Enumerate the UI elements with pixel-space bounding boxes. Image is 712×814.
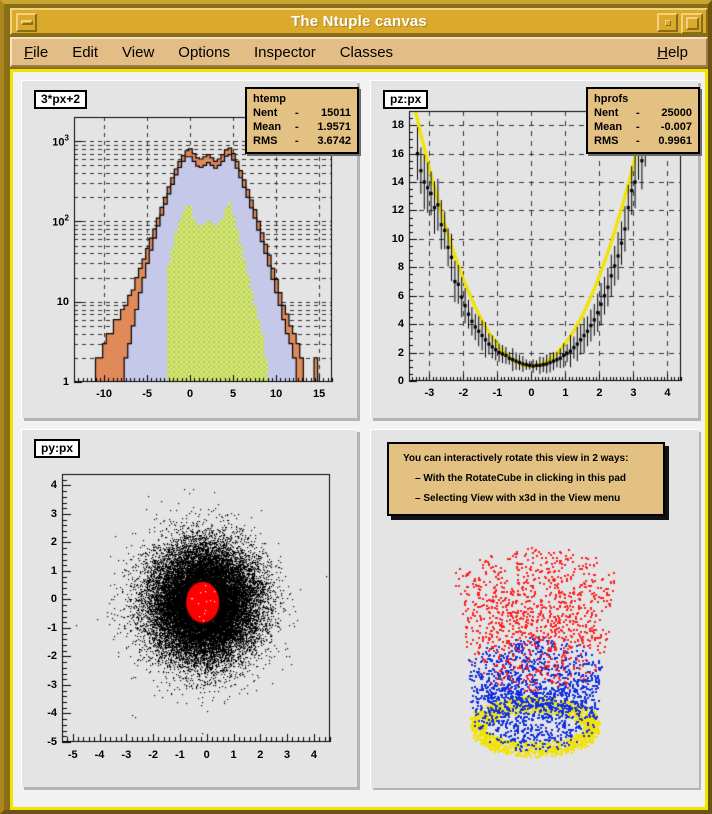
pad2-xtick-2: 2	[596, 387, 602, 399]
pad2-xtick-3: 3	[630, 387, 636, 399]
menu-item-classes[interactable]: Classes	[330, 42, 403, 63]
pad1-xtick-15: 15	[313, 388, 325, 400]
pad1-ytick: 102	[29, 214, 69, 229]
stats2-row-rms: RMS - 0.9961	[594, 134, 692, 148]
menu-item-file[interactable]: File	[14, 42, 58, 63]
stats2-name: hprofs	[594, 92, 692, 106]
pad2-xtick--2: -2	[459, 387, 469, 399]
root-canvas[interactable]: 3*px+2 htemp Nent - 15011 Mean - 1.9571 …	[10, 69, 708, 810]
info-line-1: You can interactively rotate this view i…	[403, 453, 655, 464]
pad-3d-view[interactable]: You can interactively rotate this view i…	[370, 429, 698, 787]
pad3-ytick-3: 3	[17, 508, 57, 520]
restore-button[interactable]	[657, 13, 678, 32]
menu-bar: File Edit View Options Inspector Classes…	[10, 37, 708, 67]
pad3-xtick-4: 4	[311, 749, 317, 761]
pad1-xtick--10: -10	[96, 388, 112, 400]
menu-item-view[interactable]: View	[112, 42, 164, 63]
pad2-xtick-4: 4	[664, 387, 670, 399]
pad3-xtick--2: -2	[148, 749, 158, 761]
pad1-ytick: 1	[29, 376, 69, 388]
pad1-stats-box[interactable]: htemp Nent - 15011 Mean - 1.9571 RMS -	[245, 87, 359, 154]
maximize-icon	[686, 17, 699, 30]
pad1-xtick-0: 0	[187, 388, 193, 400]
pad3-xtick-1: 1	[230, 749, 236, 761]
stats1-row-nent: Nent - 15011	[253, 106, 351, 120]
pad-histogram-stacked[interactable]: 3*px+2 htemp Nent - 15011 Mean - 1.9571 …	[21, 80, 357, 418]
pad3-ytick-1: 1	[17, 565, 57, 577]
pad3-ytick--1: -1	[17, 622, 57, 634]
pad2-stats-box[interactable]: hprofs Nent - 25000 Mean - -0.007 RMS -	[586, 87, 700, 154]
pad2-title: pz:px	[383, 90, 428, 109]
application-window: The Ntuple canvas File Edit View Options…	[0, 0, 712, 814]
pad2-xtick--1: -1	[493, 387, 503, 399]
pad2-ytick-18: 18	[364, 119, 404, 131]
pad3-xtick-2: 2	[257, 749, 263, 761]
pad1-xtick--5: -5	[142, 388, 152, 400]
menu-item-inspector[interactable]: Inspector	[244, 42, 326, 63]
maximize-button[interactable]	[681, 13, 703, 34]
menu-item-options[interactable]: Options	[168, 42, 240, 63]
pad-profile-fit[interactable]: pz:px hprofs Nent - 25000 Mean - -0.007 …	[370, 80, 698, 418]
canvas-inner: 3*px+2 htemp Nent - 15011 Mean - 1.9571 …	[13, 72, 705, 807]
info-line-2: – With the RotateCube in clicking in thi…	[415, 473, 655, 484]
pad3-ytick--4: -4	[17, 707, 57, 719]
pad2-xtick-0: 0	[528, 387, 534, 399]
stats2-row-mean: Mean - -0.007	[594, 120, 692, 134]
window-title: The Ntuple canvas	[12, 10, 706, 33]
pad2-ytick-0: 0	[364, 375, 404, 387]
pad3-title: py:px	[34, 439, 80, 458]
pad2-ytick-6: 6	[364, 290, 404, 302]
pad3-ytick--5: -5	[17, 736, 57, 748]
pad2-xtick-1: 1	[562, 387, 568, 399]
pad2-ytick-8: 8	[364, 261, 404, 273]
pad1-ytick: 103	[29, 134, 69, 149]
pad1-xtick-10: 10	[270, 388, 282, 400]
pad3-ytick--3: -3	[17, 679, 57, 691]
pad3-ytick-4: 4	[17, 479, 57, 491]
pad3-xtick-3: 3	[284, 749, 290, 761]
pad2-xtick--3: -3	[425, 387, 435, 399]
pad2-ytick-4: 4	[364, 318, 404, 330]
pad3-xtick--1: -1	[175, 749, 185, 761]
stats1-row-mean: Mean - 1.9571	[253, 120, 351, 134]
pad2-ytick-14: 14	[364, 176, 404, 188]
pad2-ytick-16: 16	[364, 148, 404, 160]
pad-scatter-pypx[interactable]: py:px -5-4-3-2-101234-5-4-3-2-101234	[21, 429, 357, 787]
pad1-ytick: 10	[29, 296, 69, 308]
pad3-xtick--3: -3	[121, 749, 131, 761]
pad3-ytick-0: 0	[17, 593, 57, 605]
pad3-xtick-0: 0	[204, 749, 210, 761]
restore-icon	[665, 20, 671, 26]
pad1-xtick-5: 5	[230, 388, 236, 400]
pad2-ytick-2: 2	[364, 347, 404, 359]
rotate-info-box: You can interactively rotate this view i…	[387, 442, 665, 516]
pad3-ytick--2: -2	[17, 650, 57, 662]
pad3-plot-canvas	[22, 430, 358, 788]
stats1-row-rms: RMS - 3.6742	[253, 134, 351, 148]
menu-item-help[interactable]: Help	[647, 42, 698, 63]
stats1-name: htemp	[253, 92, 351, 106]
pad3-ytick-2: 2	[17, 536, 57, 548]
pad1-title: 3*px+2	[34, 90, 87, 109]
pad2-ytick-12: 12	[364, 204, 404, 216]
menu-item-edit[interactable]: Edit	[62, 42, 108, 63]
info-line-3: – Selecting View with x3d in the View me…	[415, 493, 655, 504]
pad3-xtick--4: -4	[95, 749, 105, 761]
pad2-ytick-10: 10	[364, 233, 404, 245]
pad3-xtick--5: -5	[68, 749, 78, 761]
title-bar: The Ntuple canvas	[10, 8, 708, 35]
stats2-row-nent: Nent - 25000	[594, 106, 692, 120]
